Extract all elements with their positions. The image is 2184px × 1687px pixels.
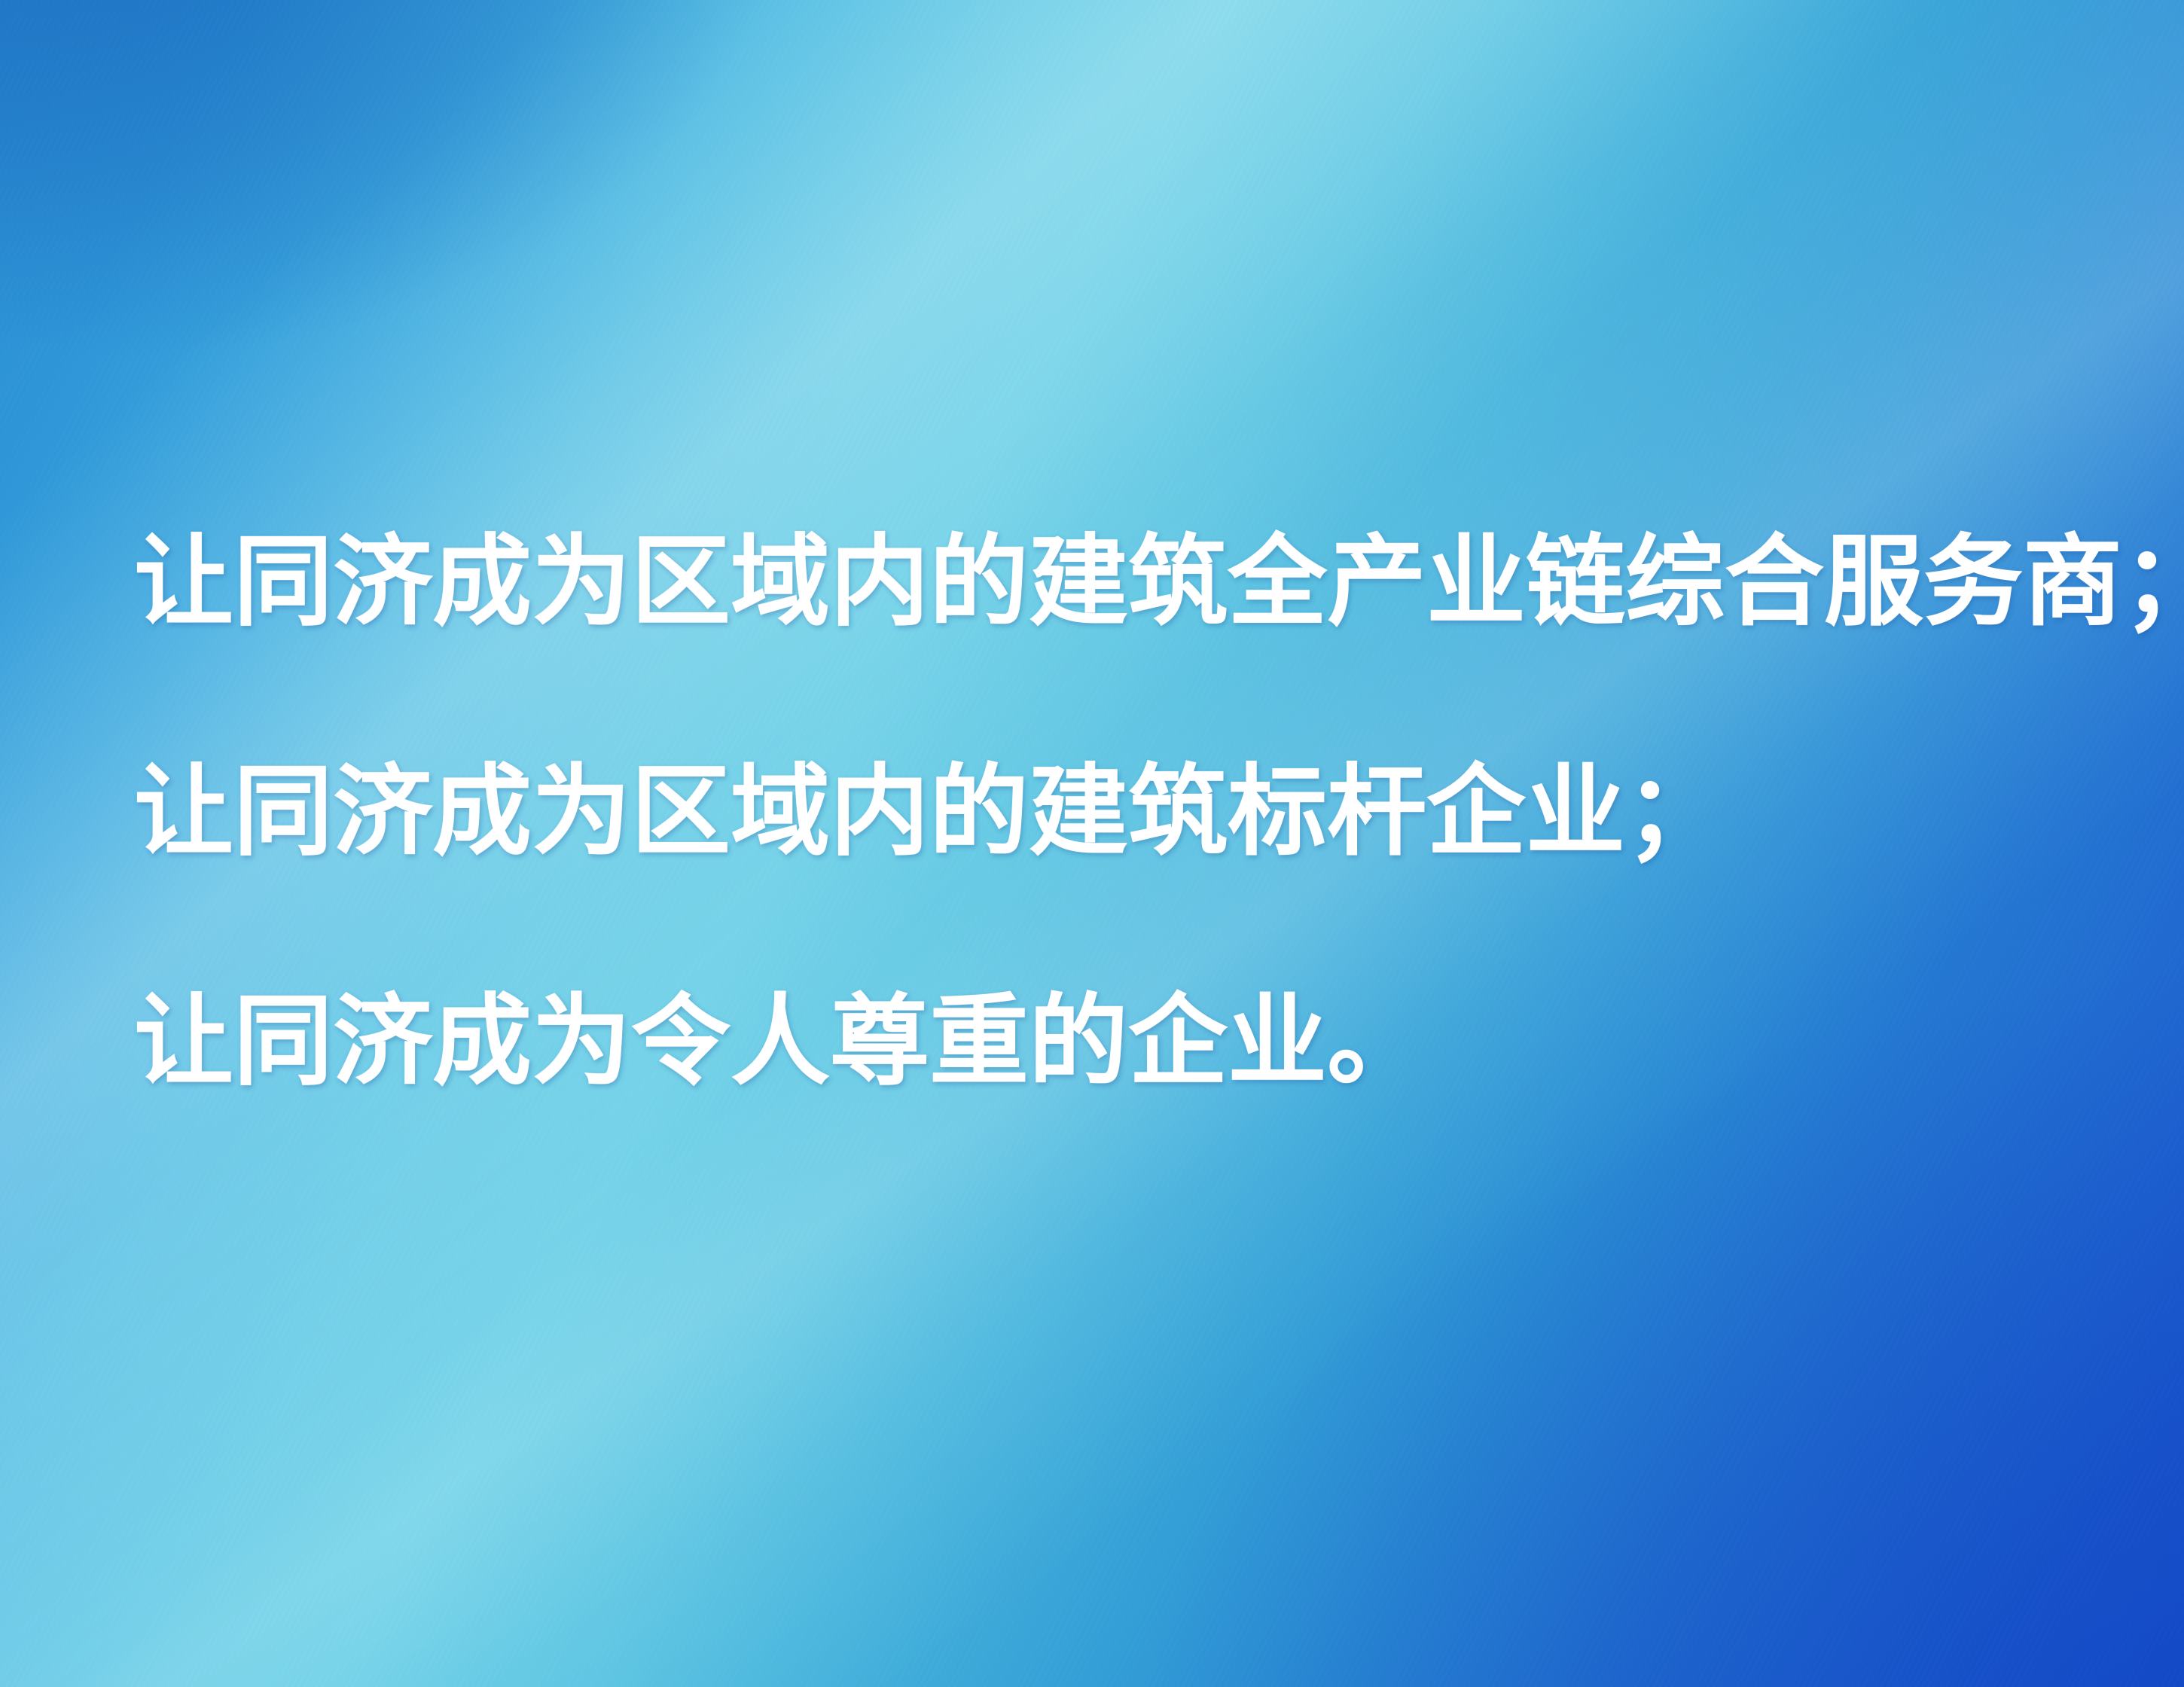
slide-line-3: 让同济成为令人尊重的企业。 — [134, 926, 2092, 1156]
presentation-slide: 让同济成为区域内的建筑全产业链综合服务商； 让同济成为区域内的建筑标杆企业； 让… — [0, 0, 2184, 1687]
slide-line-2: 让同济成为区域内的建筑标杆企业； — [134, 697, 2092, 926]
slide-text-block: 让同济成为区域内的建筑全产业链综合服务商； 让同济成为区域内的建筑标杆企业； 让… — [134, 467, 2092, 1156]
slide-line-1: 让同济成为区域内的建筑全产业链综合服务商； — [134, 467, 2092, 697]
